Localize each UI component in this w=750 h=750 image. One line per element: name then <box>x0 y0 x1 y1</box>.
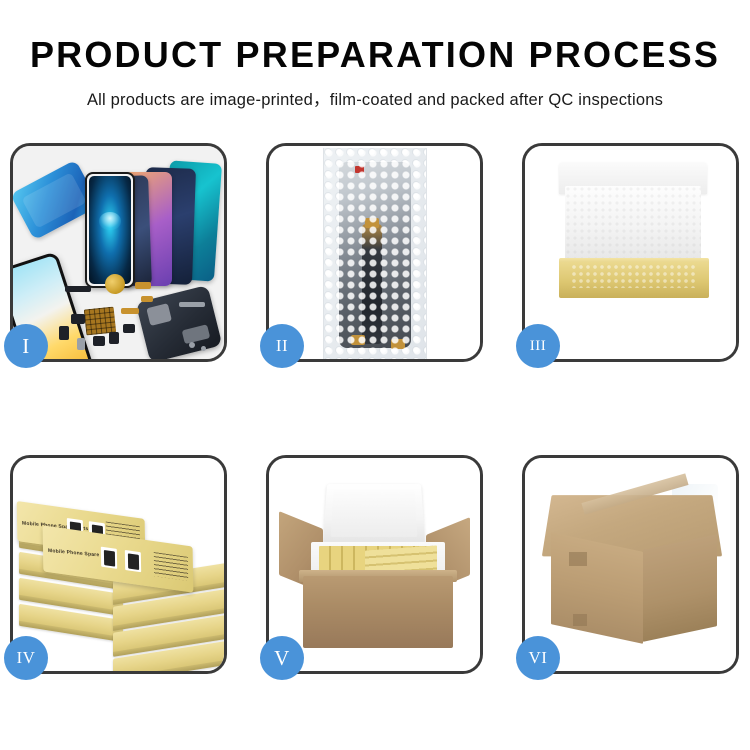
process-step-6: VI <box>522 455 739 674</box>
step-1-image <box>13 146 224 359</box>
product-preparation-infographic: PRODUCT PREPARATION PROCESS All products… <box>0 0 750 750</box>
retail-box-stack: Mobile Phone Spare Parts Mobile Phone Sp… <box>17 476 224 666</box>
step-6-image <box>525 458 736 671</box>
page-title: PRODUCT PREPARATION PROCESS <box>0 34 750 76</box>
foam-padding <box>565 186 701 264</box>
connector-part <box>391 339 405 349</box>
flex-cable <box>362 224 382 344</box>
jellyfish-wallpaper-motif <box>99 212 121 230</box>
carton-seam <box>569 552 587 566</box>
step-badge-5: V <box>260 636 304 680</box>
small-part <box>93 336 105 346</box>
process-step-1: I <box>10 143 227 362</box>
box-window <box>101 547 117 569</box>
connector-part <box>351 335 365 345</box>
carton-front-face <box>551 532 643 644</box>
step-2-image <box>269 146 480 359</box>
small-part <box>179 302 205 307</box>
phone-front-glass <box>85 172 135 288</box>
step-badge-3: III <box>516 324 560 368</box>
qc-sticker <box>355 166 364 173</box>
small-part <box>65 286 91 292</box>
small-part <box>59 326 69 340</box>
step-badge-6: VI <box>516 636 560 680</box>
carton-body <box>303 576 453 648</box>
carton-seam <box>573 614 587 626</box>
connector-part <box>365 218 379 228</box>
small-part <box>121 308 139 314</box>
small-part <box>123 324 135 333</box>
page-subtitle: All products are image-printed，film-coat… <box>0 86 750 110</box>
process-step-5: V <box>266 455 483 674</box>
screw-part <box>201 346 206 351</box>
process-step-3: III <box>522 143 739 362</box>
small-part <box>135 282 151 289</box>
process-step-4: Mobile Phone Spare Parts Mobile Phone Sp… <box>10 455 227 674</box>
box-window <box>125 550 141 572</box>
box-spec-lines <box>154 552 188 581</box>
bubble-wrapped-units <box>571 264 697 288</box>
screw-part <box>189 342 195 348</box>
step-badge-2: II <box>260 324 304 368</box>
step-4-image: Mobile Phone Spare Parts Mobile Phone Sp… <box>13 458 224 671</box>
step-3-image <box>525 146 736 359</box>
small-part <box>71 314 85 324</box>
process-step-2: II <box>266 143 483 362</box>
carton-side-face <box>643 534 717 642</box>
step-5-image <box>269 458 480 671</box>
header: PRODUCT PREPARATION PROCESS All products… <box>0 0 750 110</box>
small-part <box>77 338 85 350</box>
small-part <box>109 332 119 344</box>
foam-lid <box>323 484 425 544</box>
step-badge-4: IV <box>4 636 48 680</box>
small-part <box>141 296 153 302</box>
step-badge-1: I <box>4 324 48 368</box>
bubble-wrap-bag <box>323 148 427 359</box>
process-step-grid: I II <box>10 143 740 674</box>
